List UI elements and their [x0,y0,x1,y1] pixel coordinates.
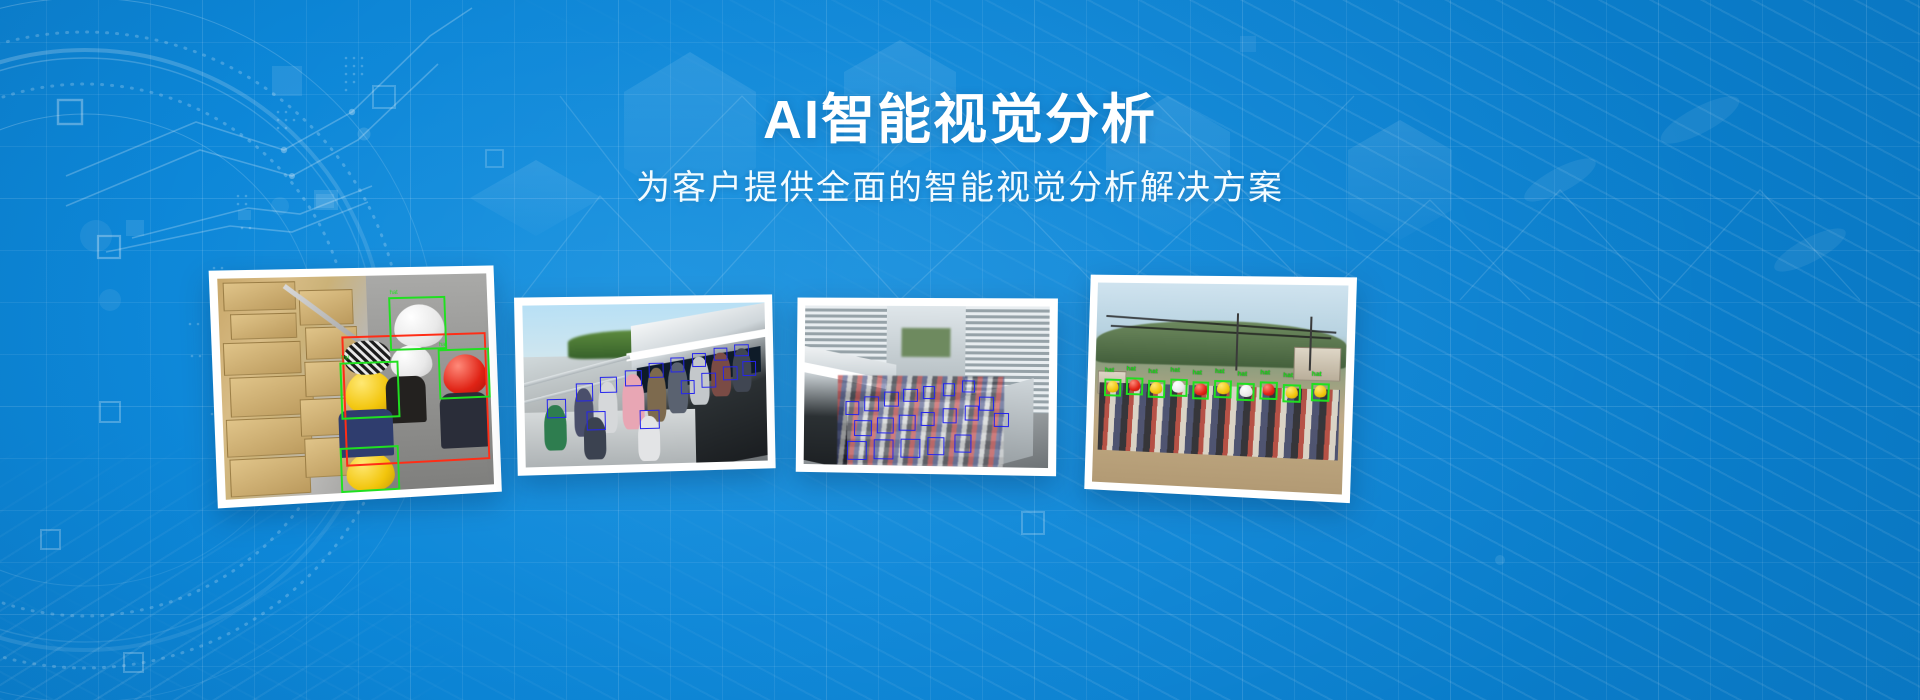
detection-box-face [898,414,915,430]
outdoor-scene: hat hat hat hat hat hat hat hat hat hat [1092,283,1348,495]
platform-background [522,302,767,467]
detection-box-face [723,366,738,381]
detection-box-face [692,353,707,368]
warehouse-scene: hat hat hat [217,273,494,499]
station-background [804,305,1050,468]
carton [230,456,312,498]
detection-box-face [702,373,717,388]
detection-box-face [943,383,955,396]
detection-label: hat [1148,368,1158,375]
detection-box-face [586,411,606,431]
detection-box-hat [340,445,401,493]
detection-box-hat [1282,384,1301,403]
detection-label: hat [1283,372,1293,379]
detection-box-face [964,406,979,421]
detection-box-hat [1170,378,1188,397]
detection-label: hat [1105,366,1114,373]
detection-box-hat: hat [437,347,491,400]
detection-label: hat [1215,368,1225,375]
detection-label: hat [341,356,350,362]
detection-box-face [648,363,663,378]
detection-box-face [876,417,893,433]
detection-box-face [903,389,918,402]
detection-box-face [624,370,641,386]
detection-label: hat [1260,369,1270,376]
detection-box-face [923,386,935,399]
detection-box-hat [1126,377,1143,396]
hero-copy: AI智能视觉分析 为客户提供全面的智能视觉分析解决方案 [0,0,1920,209]
detection-label: hat [1192,369,1202,376]
detection-box-face [680,380,695,395]
detection-box-face [576,384,594,402]
detection-box-hat [1259,381,1277,400]
detection-box-face [864,396,879,411]
outdoor-background: hat hat hat hat hat hat hat hat hat hat [1092,283,1348,495]
photo-gallery: hat hat hat [0,258,1920,528]
page-title: AI智能视觉分析 [0,92,1920,148]
warehouse-background: hat hat hat [217,273,494,499]
hero-banner: AI智能视觉分析 为客户提供全面的智能视觉分析解决方案 [0,0,1920,700]
detection-box-face [670,358,685,373]
detection-box-face [962,380,974,393]
detection-label: hat [389,290,397,296]
detection-label: hat [1312,370,1322,377]
detection-box-hat [1104,378,1121,397]
detection-box-face [713,347,728,360]
detection-box-face [847,441,867,460]
detection-label: hat [1170,366,1180,373]
tree-line [901,328,950,357]
detection-box-hat [1192,381,1210,400]
detection-box-face [845,401,860,415]
platform-scene [522,302,767,467]
detection-box-face [900,438,920,457]
detection-box-face [884,392,899,407]
detection-box-hat [1148,380,1166,399]
detection-box-face [547,399,567,419]
detection-box-face [954,434,971,452]
detection-box-face [920,412,935,427]
detection-box-face [600,377,617,393]
detection-box-face [640,409,660,429]
gallery-photo-platform[interactable] [514,294,776,475]
detection-box-face [942,409,957,424]
detection-box-hat: hat [339,361,400,419]
detection-box-hat [1237,383,1255,402]
detection-label: hat [1237,370,1247,377]
detection-box-face [979,396,994,411]
carton [223,340,302,376]
detection-box-face [927,437,944,455]
gallery-photo-station[interactable] [796,298,1058,477]
page-subtitle: 为客户提供全面的智能视觉分析解决方案 [0,168,1920,209]
detection-label: hat [439,342,447,348]
detection-box-face [874,440,894,459]
detection-label: hat [1126,365,1135,372]
detection-box-face [742,361,757,376]
gallery-photo-warehouse[interactable]: hat hat hat [209,265,502,508]
detection-box-hat [1311,383,1330,402]
detection-box-hat [1214,380,1232,399]
detection-box-face [854,420,871,436]
detection-box-face [734,344,749,357]
gallery-photo-outdoor[interactable]: hat hat hat hat hat hat hat hat hat hat [1084,275,1357,504]
detection-box-face [994,412,1009,427]
carton [230,312,298,340]
station-scene [804,305,1050,468]
